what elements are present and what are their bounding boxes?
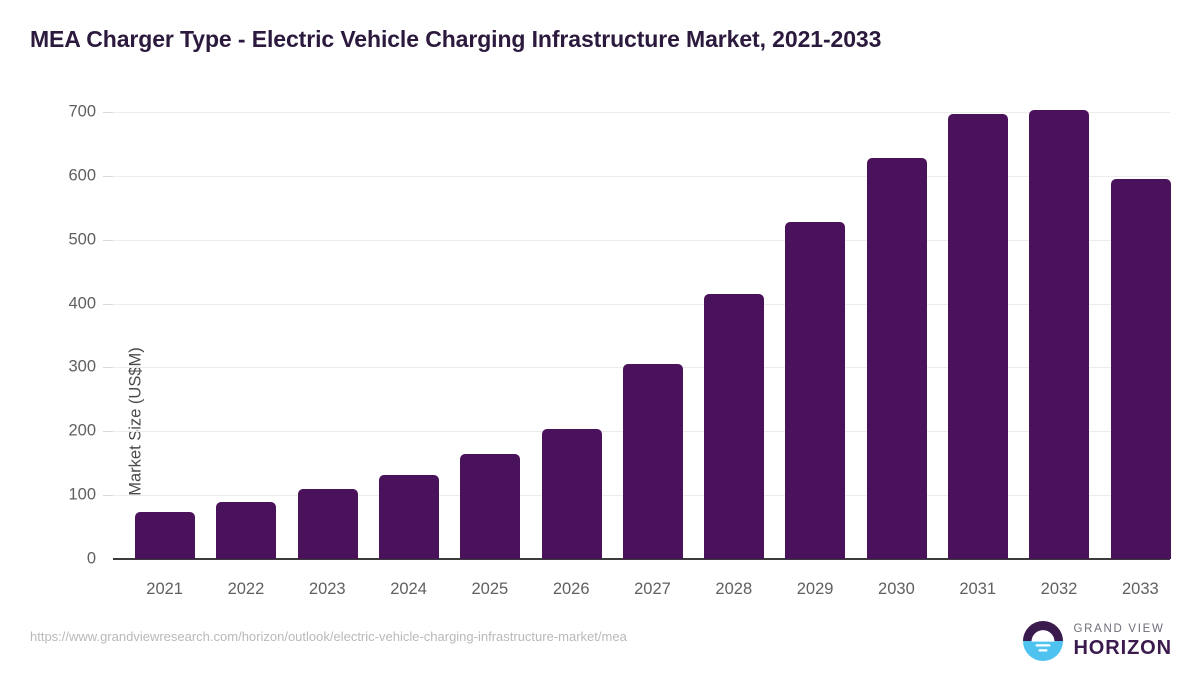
x-axis-label: 2022 [205, 580, 286, 599]
x-axis-label: 2024 [368, 580, 449, 599]
logo-line-1: GRAND VIEW [1073, 624, 1172, 636]
bar-group[interactable]: 2023 [287, 112, 368, 559]
x-axis-label: 2029 [774, 580, 855, 599]
bar-group[interactable]: 2022 [205, 112, 286, 559]
bar-group[interactable]: 2031 [937, 112, 1018, 559]
y-axis-label: 600 [10, 166, 96, 185]
x-axis-label: 2028 [693, 580, 774, 599]
bar-group[interactable]: 2033 [1100, 112, 1181, 559]
x-axis-label: 2026 [531, 580, 612, 599]
logo-line-2: HORIZON [1073, 638, 1172, 658]
x-axis-label: 2027 [612, 580, 693, 599]
bar-group[interactable]: 2028 [693, 112, 774, 559]
bar[interactable] [135, 512, 195, 559]
bar[interactable] [298, 489, 358, 559]
bar-group[interactable]: 2029 [774, 112, 855, 559]
y-tick-mark [103, 367, 113, 368]
bar-group[interactable]: 2026 [531, 112, 612, 559]
bar-group[interactable]: 2024 [368, 112, 449, 559]
x-axis-label: 2030 [856, 580, 937, 599]
y-tick-mark [103, 304, 113, 305]
x-axis-label: 2025 [449, 580, 530, 599]
bar[interactable] [948, 114, 1008, 559]
grand-view-horizon-circle-icon [1022, 620, 1064, 662]
bar-group[interactable]: 2030 [856, 112, 937, 559]
bar-group[interactable]: 2032 [1018, 112, 1099, 559]
bar-group[interactable]: 2021 [124, 112, 205, 559]
y-axis-label: 200 [10, 422, 96, 441]
y-axis-label: 700 [10, 103, 96, 122]
y-tick-mark [103, 176, 113, 177]
bar[interactable] [785, 222, 845, 559]
y-axis-label: 500 [10, 230, 96, 249]
source-url[interactable]: https://www.grandviewresearch.com/horizo… [30, 629, 627, 644]
y-axis-label: 400 [10, 294, 96, 313]
bar[interactable] [379, 475, 439, 559]
x-axis-label: 2021 [124, 580, 205, 599]
page-title: MEA Charger Type - Electric Vehicle Char… [30, 26, 881, 53]
y-axis-label: 100 [10, 486, 96, 505]
y-axis-label: 300 [10, 358, 96, 377]
bar[interactable] [704, 294, 764, 559]
bar[interactable] [542, 429, 602, 559]
y-tick-mark [103, 495, 113, 496]
bar-group[interactable]: 2025 [449, 112, 530, 559]
bar[interactable] [460, 454, 520, 559]
x-axis-label: 2032 [1018, 580, 1099, 599]
logo-wordmark: GRAND VIEW HORIZON [1073, 624, 1172, 659]
y-tick-mark [103, 240, 113, 241]
chart-page: MEA Charger Type - Electric Vehicle Char… [0, 0, 1200, 675]
bar-group[interactable]: 2027 [612, 112, 693, 559]
bar[interactable] [867, 158, 927, 559]
x-axis-label: 2031 [937, 580, 1018, 599]
bar-series: 2021202220232024202520262027202820292030… [113, 112, 1170, 559]
bar[interactable] [1029, 110, 1089, 559]
x-axis-label: 2033 [1100, 580, 1181, 599]
bar[interactable] [1111, 179, 1171, 559]
x-axis-label: 2023 [287, 580, 368, 599]
y-tick-mark [103, 112, 113, 113]
bar[interactable] [623, 364, 683, 559]
y-tick-mark [103, 431, 113, 432]
brand-logo[interactable]: GRAND VIEW HORIZON [1022, 618, 1172, 664]
bar[interactable] [216, 502, 276, 559]
y-axis-label: 0 [10, 550, 96, 569]
